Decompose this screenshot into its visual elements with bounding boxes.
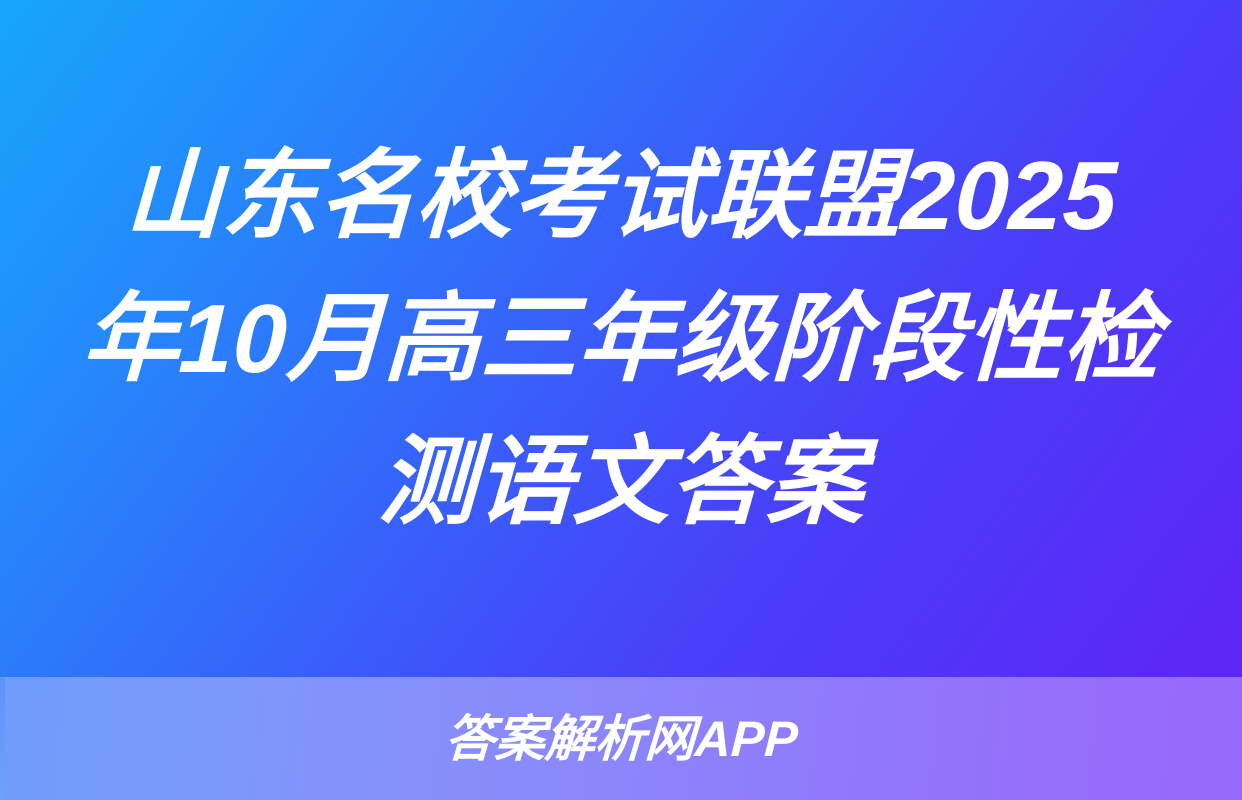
poster-title-line-3: 测语文答案 — [376, 410, 866, 553]
poster-footer-band: 答案解析网APP — [0, 677, 1242, 800]
poster-title-line-2: 年10月高三年级阶段性检 — [80, 267, 1163, 410]
app-watermark-label: 答案解析网APP — [443, 711, 799, 767]
poster-title-line-1: 山东名校考试联盟2025 — [123, 124, 1120, 267]
poster-title-block: 山东名校考试联盟2025 年10月高三年级阶段性检 测语文答案 — [0, 0, 1242, 677]
poster-canvas: 山东名校考试联盟2025 年10月高三年级阶段性检 测语文答案 答案解析网APP — [0, 0, 1242, 800]
